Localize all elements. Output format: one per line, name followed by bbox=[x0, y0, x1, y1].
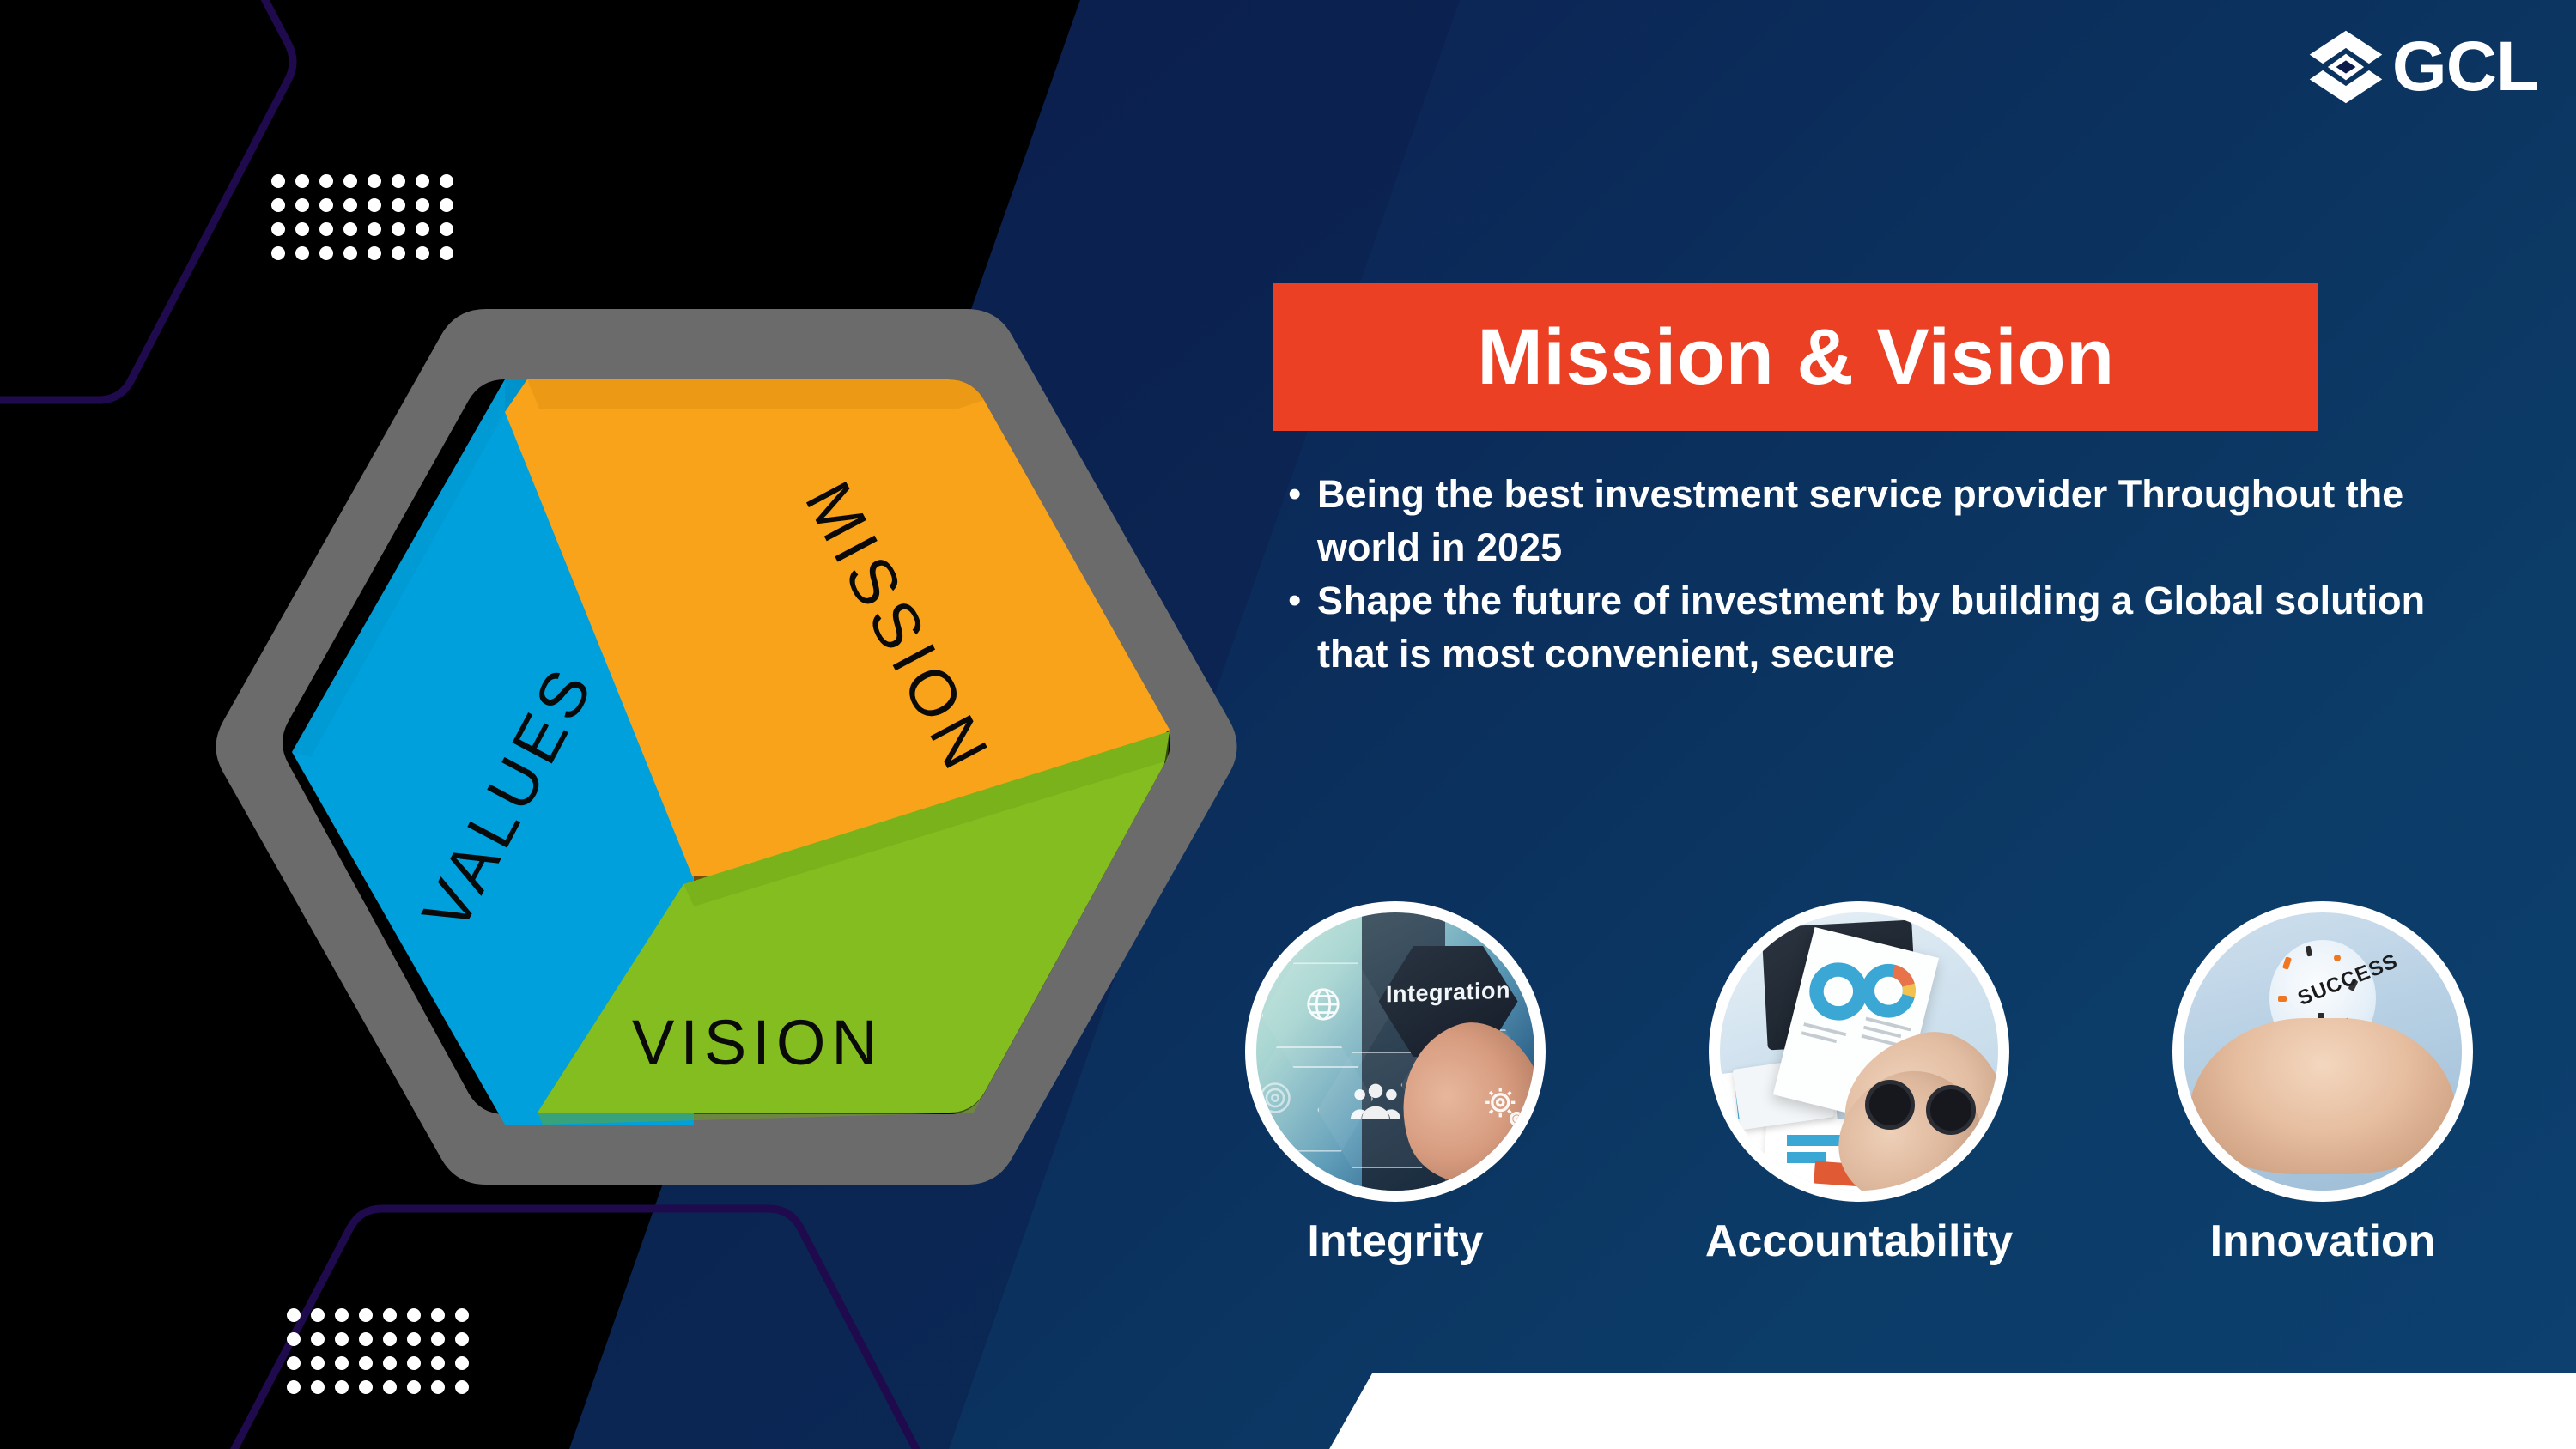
grid-dot bbox=[416, 246, 429, 260]
title-banner: Mission & Vision bbox=[1273, 283, 2318, 431]
grid-dot bbox=[383, 1356, 397, 1370]
value-circle-accountability bbox=[1709, 901, 2009, 1202]
grid-dot bbox=[335, 1308, 349, 1322]
grid-dot bbox=[392, 222, 405, 236]
gcl-logo[interactable]: GCL bbox=[2305, 26, 2538, 108]
core-values-row: Integration bbox=[1163, 901, 2555, 1264]
grid-dot bbox=[359, 1308, 373, 1322]
value-label-innovation: Innovation bbox=[2210, 1219, 2436, 1264]
value-circle-integrity: Integration bbox=[1245, 901, 1546, 1202]
grid-dot bbox=[271, 246, 285, 260]
grid-dot bbox=[431, 1308, 445, 1322]
grid-dot bbox=[392, 198, 405, 212]
grid-dot bbox=[383, 1380, 397, 1394]
list-item: • Shape the future of investment by buil… bbox=[1288, 574, 2473, 681]
target-icon bbox=[1256, 1079, 1294, 1117]
grid-dot bbox=[343, 174, 357, 188]
grid-dot bbox=[343, 198, 357, 212]
value-label-integrity: Integrity bbox=[1307, 1219, 1483, 1264]
bullet-text: Being the best investment service provid… bbox=[1317, 468, 2473, 574]
layered-diamond-icon bbox=[2305, 26, 2387, 108]
gears-icon bbox=[1483, 1085, 1529, 1131]
grid-dot bbox=[287, 1332, 301, 1346]
grid-dot bbox=[319, 222, 333, 236]
grid-dot bbox=[287, 1380, 301, 1394]
grid-dot bbox=[416, 174, 429, 188]
value-item-accountability[interactable]: Accountability bbox=[1627, 901, 2091, 1264]
grid-dot bbox=[407, 1308, 421, 1322]
grid-dot bbox=[383, 1332, 397, 1346]
grid-dot bbox=[455, 1332, 469, 1346]
grid-dot bbox=[359, 1380, 373, 1394]
mission-vision-values-hexagon: VALUES MISSION VISION bbox=[203, 283, 1250, 1210]
grid-dot bbox=[319, 246, 333, 260]
grid-dot bbox=[319, 198, 333, 212]
integration-caption: Integration bbox=[1384, 977, 1512, 1008]
grid-dot bbox=[440, 174, 453, 188]
bullet-text: Shape the future of investment by buildi… bbox=[1317, 574, 2473, 681]
grid-dot bbox=[271, 198, 285, 212]
grid-dot bbox=[440, 198, 453, 212]
grid-dot bbox=[311, 1308, 325, 1322]
grid-dot bbox=[455, 1308, 469, 1322]
grid-dot bbox=[416, 222, 429, 236]
grid-dot bbox=[311, 1380, 325, 1394]
grid-dot bbox=[392, 174, 405, 188]
grid-dot bbox=[407, 1356, 421, 1370]
bullet-marker-icon: • bbox=[1288, 468, 1317, 521]
tech-hexagon-integration-photo: Integration bbox=[1256, 912, 1534, 1191]
grid-dot bbox=[335, 1332, 349, 1346]
grid-dot bbox=[455, 1356, 469, 1370]
grid-dot bbox=[407, 1380, 421, 1394]
grid-dot bbox=[431, 1332, 445, 1346]
grid-dot bbox=[335, 1356, 349, 1370]
financial-report-review-photo bbox=[1720, 912, 1998, 1191]
grid-dot bbox=[431, 1380, 445, 1394]
grid-dot bbox=[359, 1332, 373, 1346]
dot-grid-top-left bbox=[271, 174, 453, 260]
grid-dot bbox=[295, 198, 309, 212]
grid-dot bbox=[368, 174, 381, 188]
grid-dot bbox=[368, 246, 381, 260]
value-item-integrity[interactable]: Integration bbox=[1163, 901, 1627, 1264]
grid-dot bbox=[440, 246, 453, 260]
people-group-icon bbox=[1351, 1079, 1400, 1122]
grid-dot bbox=[343, 222, 357, 236]
grid-dot bbox=[271, 174, 285, 188]
bullet-marker-icon: • bbox=[1288, 574, 1317, 627]
logo-wordmark: GCL bbox=[2392, 32, 2538, 102]
grid-dot bbox=[407, 1332, 421, 1346]
grid-dot bbox=[319, 174, 333, 188]
slide-canvas: GCL VALUES MISSION bbox=[0, 0, 2576, 1449]
grid-dot bbox=[311, 1356, 325, 1370]
hands-holding-lightbulb-photo: SUCCESS bbox=[2184, 912, 2462, 1191]
grid-dot bbox=[295, 174, 309, 188]
dot-grid-bottom-left bbox=[287, 1308, 469, 1394]
globe-icon bbox=[1303, 985, 1343, 1024]
grid-dot bbox=[287, 1308, 301, 1322]
grid-dot bbox=[311, 1332, 325, 1346]
white-footer-panel bbox=[1314, 1373, 2576, 1449]
value-circle-innovation: SUCCESS bbox=[2172, 901, 2473, 1202]
grid-dot bbox=[287, 1356, 301, 1370]
wristwatch-icon bbox=[1926, 1085, 1976, 1135]
mission-vision-bullet-list: • Being the best investment service prov… bbox=[1288, 468, 2473, 681]
grid-dot bbox=[335, 1380, 349, 1394]
grid-dot bbox=[392, 246, 405, 260]
grid-dot bbox=[416, 198, 429, 212]
value-label-accountability: Accountability bbox=[1705, 1219, 2013, 1264]
grid-dot bbox=[343, 246, 357, 260]
grid-dot bbox=[431, 1356, 445, 1370]
grid-dot bbox=[295, 246, 309, 260]
list-item: • Being the best investment service prov… bbox=[1288, 468, 2473, 574]
grid-dot bbox=[455, 1380, 469, 1394]
hex-panel-label-vision: VISION bbox=[632, 1007, 884, 1078]
wristwatch-icon bbox=[1865, 1080, 1915, 1130]
grid-dot bbox=[368, 198, 381, 212]
grid-dot bbox=[295, 222, 309, 236]
grid-dot bbox=[440, 222, 453, 236]
grid-dot bbox=[271, 222, 285, 236]
grid-dot bbox=[383, 1308, 397, 1322]
grid-dot bbox=[359, 1356, 373, 1370]
page-title: Mission & Vision bbox=[1477, 318, 2114, 397]
value-item-innovation[interactable]: SUCCESS Innovation bbox=[2091, 901, 2555, 1264]
grid-dot bbox=[368, 222, 381, 236]
